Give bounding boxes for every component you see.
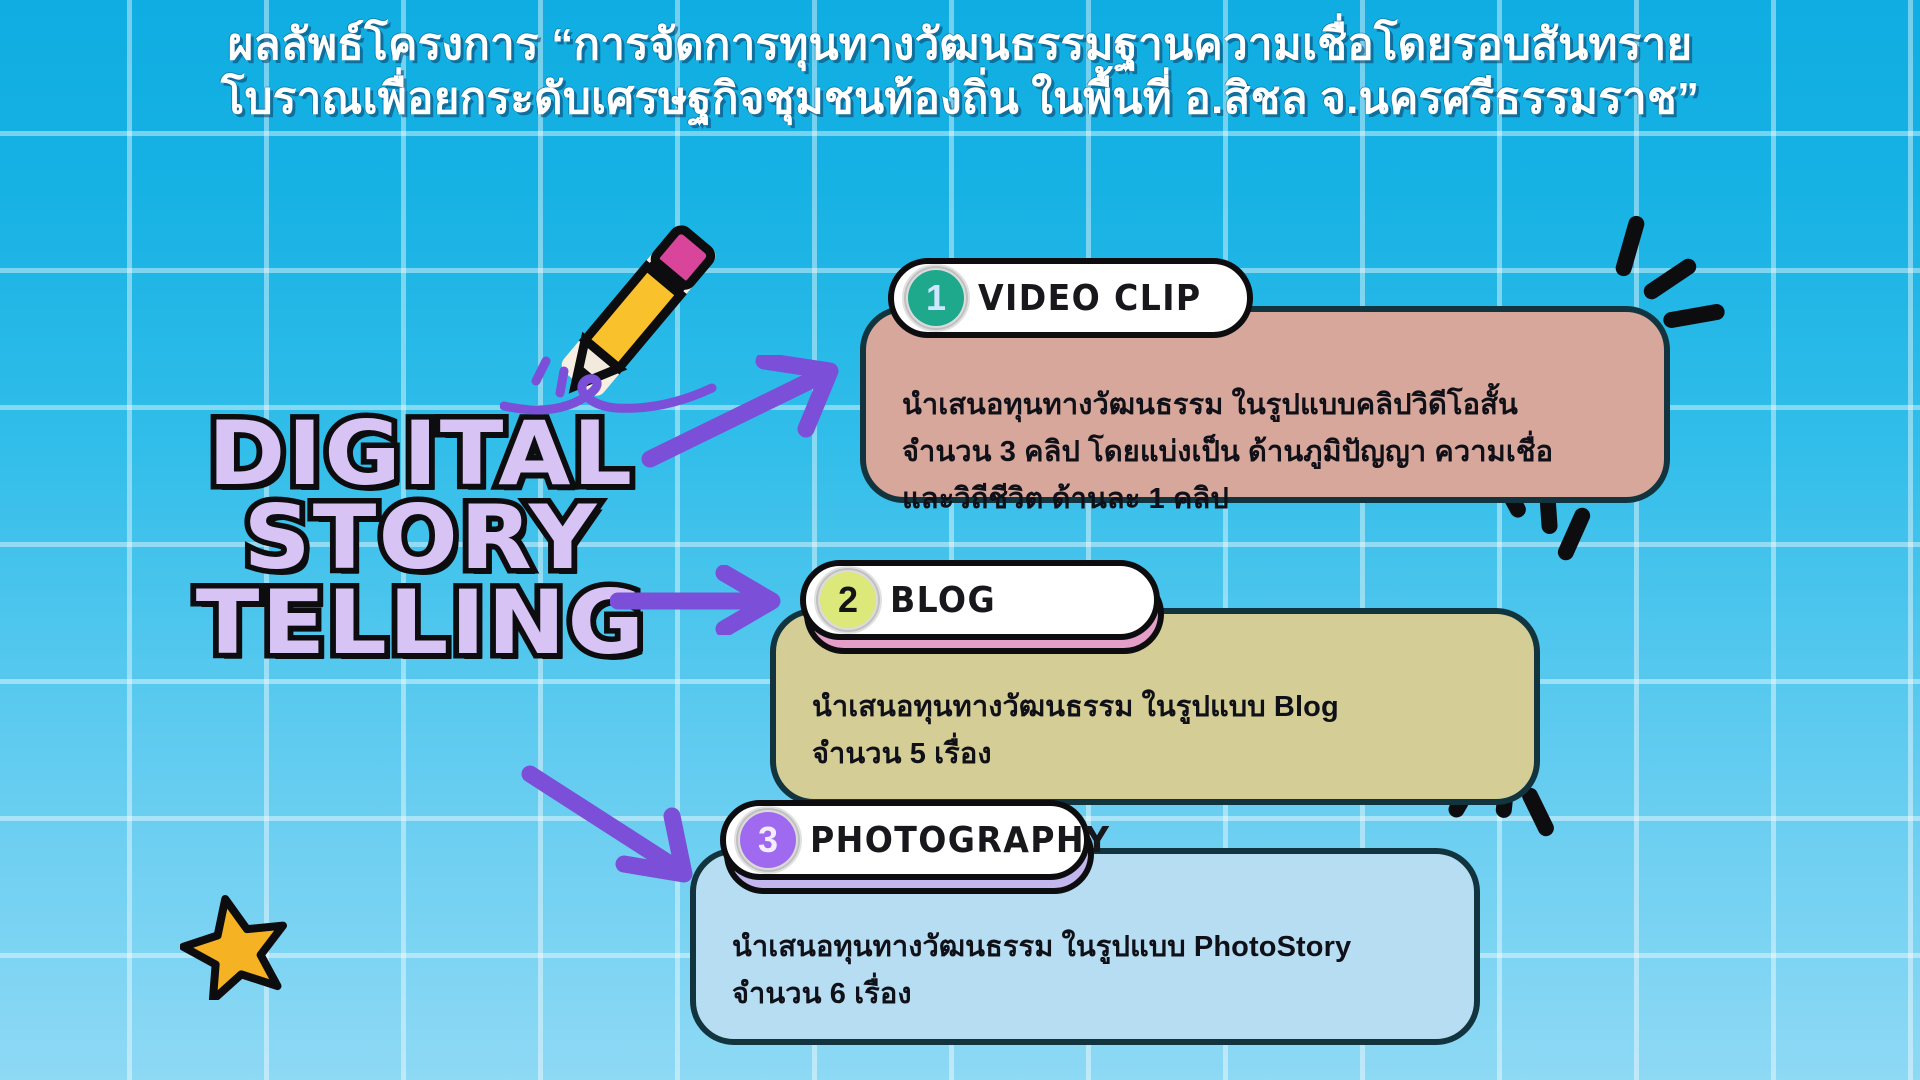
card-blog[interactable]: นำเสนอทุนทางวัฒนธรรม ในรูปแบบ Blog จำนวน… xyxy=(770,560,1540,805)
card-photography[interactable]: นำเสนอทุนทางวัฒนธรรม ในรูปแบบ PhotoStory… xyxy=(690,800,1480,1045)
card2-line-1: นำเสนอทุนทางวัฒนธรรม ในรูปแบบ Blog xyxy=(812,684,1508,731)
badge-number-1: 1 xyxy=(908,270,964,326)
arrow-to-video-clip-icon xyxy=(640,355,860,475)
star-icon xyxy=(180,890,290,1000)
arrow-to-blog-icon xyxy=(610,565,790,635)
badge-3-label: 3 xyxy=(758,819,778,861)
card-blog-title: BLOG xyxy=(890,580,996,621)
infographic-canvas: ผลลัพธ์โครงการ “การจัดการทุนทางวัฒนธรรมฐ… xyxy=(0,0,1920,1080)
card-blog-header[interactable]: 2 BLOG xyxy=(800,560,1160,640)
card1-line-2: จำนวน 3 คลิป โดยแบ่งเป็น ด้านภูมิปัญญา ค… xyxy=(902,429,1638,476)
badge-2-label: 2 xyxy=(838,579,858,621)
badge-number-3: 3 xyxy=(740,812,796,868)
card-photography-description: นำเสนอทุนทางวัฒนธรรม ในรูปแบบ PhotoStory… xyxy=(732,924,1448,1018)
card-photography-header[interactable]: 3 PHOTOGRAPHY xyxy=(720,800,1090,880)
card3-line-1: นำเสนอทุนทางวัฒนธรรม ในรูปแบบ PhotoStory xyxy=(732,924,1448,971)
logo-line-2: STORY xyxy=(172,496,670,580)
card-photography-title: PHOTOGRAPHY xyxy=(810,820,1110,861)
badge-1-label: 1 xyxy=(926,277,946,319)
card-video-clip-title: VIDEO CLIP xyxy=(978,278,1202,319)
card-video-clip[interactable]: นำเสนอทุนทางวัฒนธรรม ในรูปแบบคลิปวิดีโอส… xyxy=(860,258,1670,503)
page-title: ผลลัพธ์โครงการ “การจัดการทุนทางวัฒนธรรมฐ… xyxy=(0,18,1920,125)
card-blog-description: นำเสนอทุนทางวัฒนธรรม ในรูปแบบ Blog จำนวน… xyxy=(812,684,1508,778)
card1-line-1: นำเสนอทุนทางวัฒนธรรม ในรูปแบบคลิปวิดีโอส… xyxy=(902,382,1638,429)
digital-story-telling-logo: DIGITAL STORY TELLING xyxy=(186,412,656,665)
logo-line-3: TELLING xyxy=(172,581,670,665)
title-line-1: ผลลัพธ์โครงการ “การจัดการทุนทางวัฒนธรรมฐ… xyxy=(60,18,1860,72)
card-video-clip-description: นำเสนอทุนทางวัฒนธรรม ในรูปแบบคลิปวิดีโอส… xyxy=(902,382,1638,523)
card1-line-3: และวิถีชีวิต ด้านละ 1 คลิป xyxy=(902,476,1638,523)
arrow-to-photography-icon xyxy=(520,760,720,890)
card3-line-2: จำนวน 6 เรื่อง xyxy=(732,971,1448,1018)
card2-line-2: จำนวน 5 เรื่อง xyxy=(812,731,1508,778)
badge-number-2: 2 xyxy=(820,572,876,628)
title-line-2: โบราณเพื่อยกระดับเศรษฐกิจชุมชนท้องถิ่น ใ… xyxy=(60,72,1860,126)
card-video-clip-header[interactable]: 1 VIDEO CLIP xyxy=(888,258,1253,338)
